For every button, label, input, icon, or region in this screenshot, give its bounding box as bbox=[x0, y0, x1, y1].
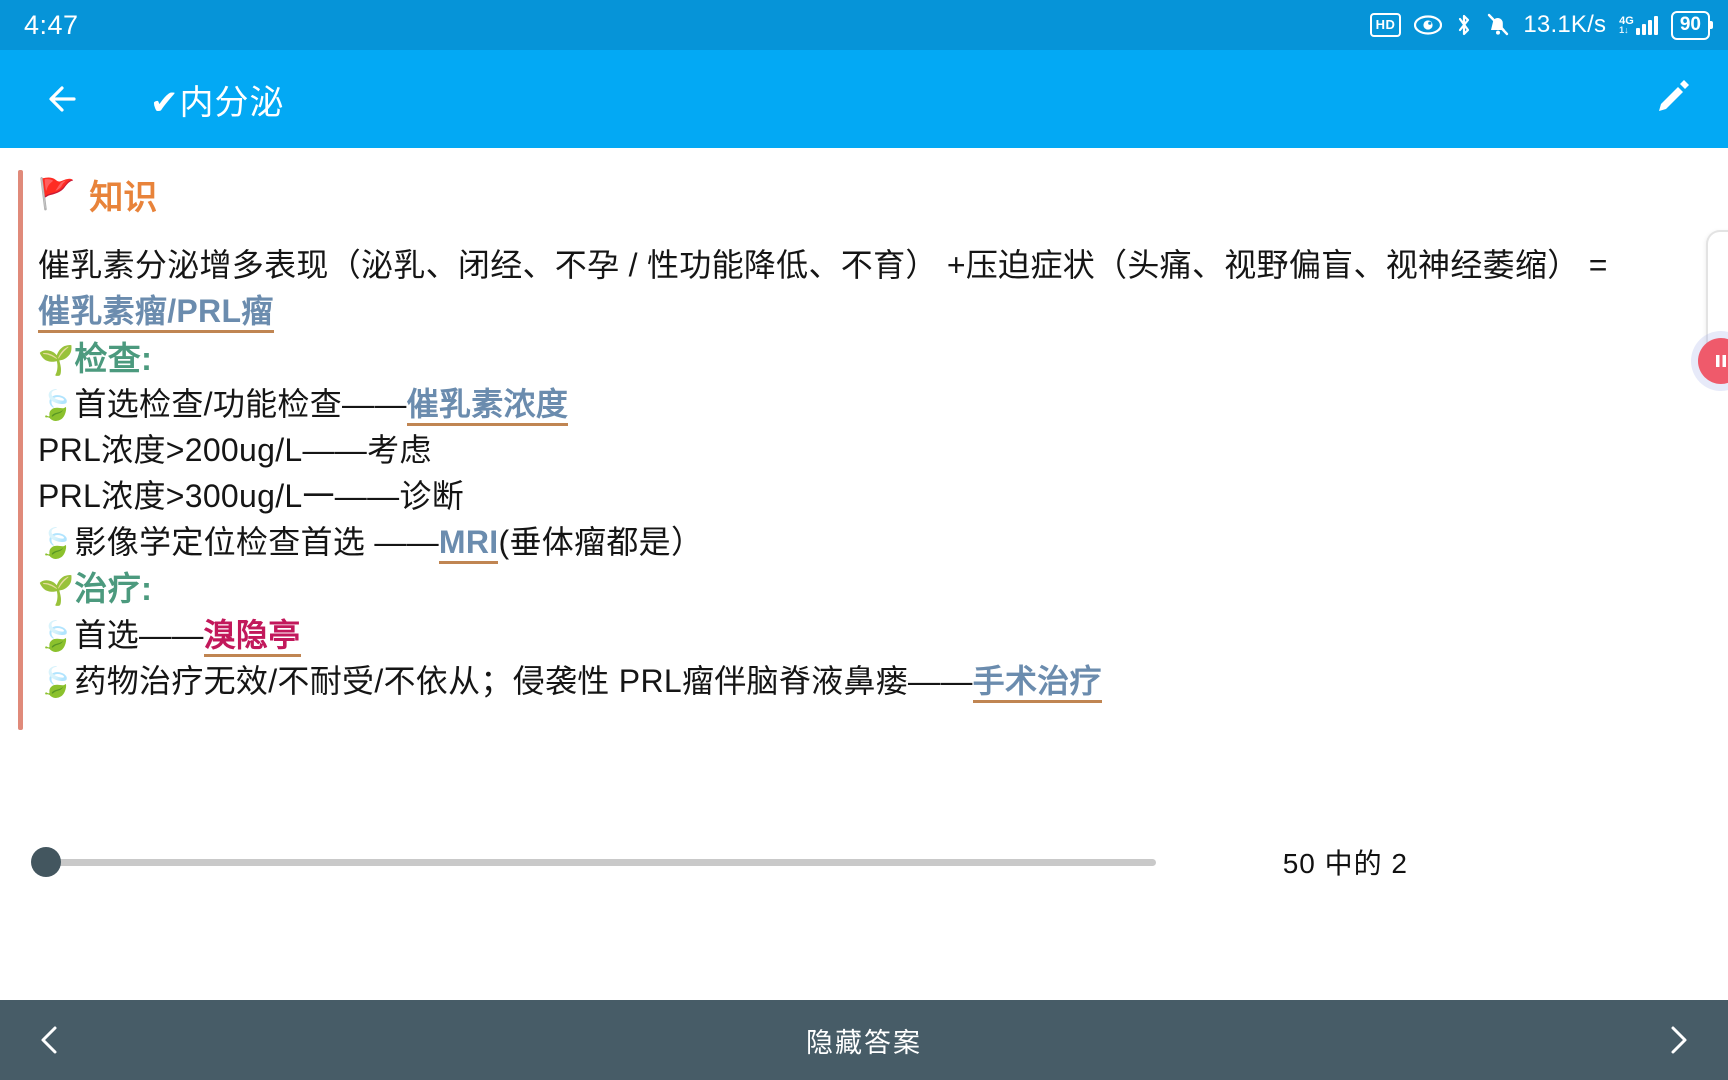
page-title: ✔内分泌 bbox=[150, 75, 285, 124]
note-line-prl-200: PRL浓度>200ug/L——考虑 bbox=[38, 428, 1698, 474]
page-counter: 50 中的 2 bbox=[1283, 842, 1408, 882]
note-segment-prl-300-0: PRL浓度>300ug/L一——诊断 bbox=[38, 478, 464, 514]
note-segment-prl-200-0: PRL浓度>200ug/L——考虑 bbox=[38, 432, 432, 468]
note-segment-diagnosis-name-0: 催乳素瘤/PRL瘤 bbox=[38, 293, 274, 333]
note-line-prl-300: PRL浓度>300ug/L一——诊断 bbox=[38, 474, 1698, 520]
network-speed: 13.1K/s bbox=[1523, 11, 1606, 39]
note-segment-exam-first-choice-0: 🍃 bbox=[38, 390, 74, 422]
note-segment-treat-surgery-1: 药物治疗无效/不耐受/不依从；侵袭性 PRL瘤伴脑脊液鼻瘘—— bbox=[74, 663, 972, 699]
note-segment-exam-heading-1: 检查: bbox=[74, 340, 152, 377]
hide-answer-button[interactable]: 隐藏答案 bbox=[0, 1021, 1728, 1060]
chevron-right-icon[interactable] bbox=[1660, 1023, 1694, 1057]
note-line-symptoms: 催乳素分泌增多表现（泌乳、闭经、不孕 / 性功能降低、不育） +压迫症状（头痛、… bbox=[38, 243, 1698, 289]
network-sub-label: 1↓ bbox=[1619, 26, 1634, 35]
knowledge-header-label: 知识 bbox=[89, 170, 157, 219]
status-clock: 4:47 bbox=[24, 10, 79, 41]
progress-slider-row: 50 中的 2 bbox=[0, 824, 1728, 900]
bluetooth-icon bbox=[1455, 12, 1473, 38]
note-segment-imaging-2: MRI bbox=[439, 524, 499, 564]
hd-icon: HD bbox=[1370, 13, 1402, 37]
note-left-rule bbox=[18, 170, 23, 730]
note-segment-treat-surgery-2: 手术治疗 bbox=[973, 663, 1102, 703]
signal-icon: 4G1↓ bbox=[1619, 15, 1658, 35]
note-block: 🚩 知识 催乳素分泌增多表现（泌乳、闭经、不孕 / 性功能降低、不育） +压迫症… bbox=[0, 170, 1728, 705]
note-line-treat-heading: 🌱治疗: bbox=[38, 565, 1698, 613]
note-segment-treat-heading-0: 🌱 bbox=[38, 575, 74, 607]
battery-icon: 90 bbox=[1671, 11, 1710, 40]
note-segment-treat-first-choice-1: 首选—— bbox=[74, 617, 203, 653]
note-segment-imaging-3: (垂体瘤都是） bbox=[498, 524, 703, 560]
note-segment-imaging-1: 影像学定位检查首选 —— bbox=[74, 524, 439, 560]
note-line-diagnosis-name: 催乳素瘤/PRL瘤 bbox=[38, 289, 1698, 335]
app-bar: ✔内分泌 bbox=[0, 50, 1728, 148]
pencil-icon[interactable] bbox=[1650, 77, 1694, 121]
note-segment-imaging-0: 🍃 bbox=[38, 528, 74, 560]
bottom-navigation-bar: 隐藏答案 bbox=[0, 1000, 1728, 1080]
status-bar: 4:47 HD 13.1K/s 4G1↓ 90 bbox=[0, 0, 1728, 50]
note-line-exam-heading: 🌱检查: bbox=[38, 335, 1698, 383]
bell-muted-icon bbox=[1486, 12, 1510, 38]
note-segment-treat-surgery-0: 🍃 bbox=[38, 667, 74, 699]
note-line-treat-first-choice: 🍃首选——溴隐亭 bbox=[38, 613, 1698, 659]
status-icons: HD 13.1K/s 4G1↓ 90 bbox=[1370, 11, 1710, 40]
note-line-imaging: 🍃影像学定位检查首选 ——MRI(垂体瘤都是） bbox=[38, 520, 1698, 566]
note-segment-exam-first-choice-2: 催乳素浓度 bbox=[407, 386, 569, 426]
note-segment-exam-first-choice-1: 首选检查/功能检查—— bbox=[74, 386, 406, 422]
note-lines: 催乳素分泌增多表现（泌乳、闭经、不孕 / 性功能降低、不育） +压迫症状（头痛、… bbox=[38, 243, 1698, 705]
flag-icon: 🚩 bbox=[38, 180, 75, 210]
note-content: 🚩 知识 催乳素分泌增多表现（泌乳、闭经、不孕 / 性功能降低、不育） +压迫症… bbox=[0, 148, 1728, 900]
note-line-treat-surgery: 🍃药物治疗无效/不耐受/不依从；侵袭性 PRL瘤伴脑脊液鼻瘘——手术治疗 bbox=[38, 659, 1698, 705]
note-segment-treat-heading-1: 治疗: bbox=[74, 570, 152, 607]
progress-slider[interactable] bbox=[36, 859, 1156, 866]
note-line-exam-first-choice: 🍃首选检查/功能检查——催乳素浓度 bbox=[38, 382, 1698, 428]
knowledge-header: 🚩 知识 bbox=[38, 170, 1698, 219]
chevron-left-icon[interactable] bbox=[34, 1023, 68, 1057]
note-segment-treat-first-choice-2: 溴隐亭 bbox=[204, 617, 301, 657]
eye-icon bbox=[1414, 15, 1442, 35]
note-segment-exam-heading-0: 🌱 bbox=[38, 345, 74, 377]
progress-slider-thumb[interactable] bbox=[31, 847, 61, 877]
note-segment-symptoms-0: 催乳素分泌增多表现（泌乳、闭经、不孕 / 性功能降低、不育） +压迫症状（头痛、… bbox=[38, 247, 1608, 283]
back-arrow-icon[interactable] bbox=[40, 74, 90, 124]
note-segment-treat-first-choice-0: 🍃 bbox=[38, 621, 74, 653]
